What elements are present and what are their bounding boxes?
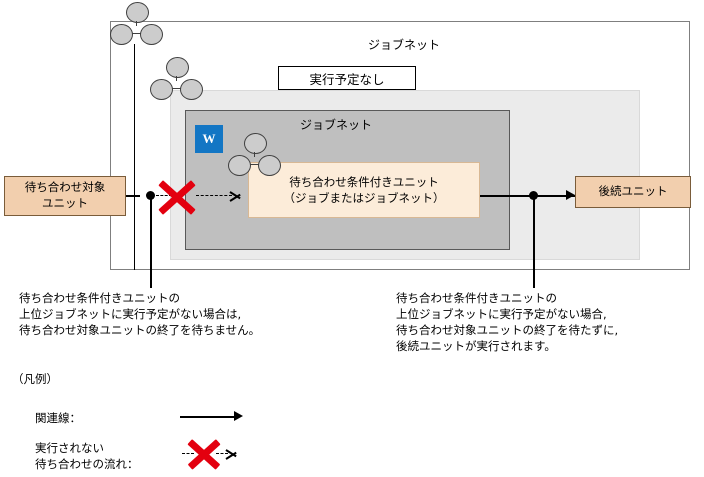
legend-solid-arrow-icon — [234, 411, 243, 421]
jobnet-icon-circle-top — [166, 57, 189, 78]
legend-item-blocked-label-line1: 実行されない — [35, 441, 104, 456]
jobnet-icon-circle-left — [228, 155, 251, 176]
wait-condition-unit-label-line2: （ジョブまたはジョブネット） — [284, 190, 445, 206]
outer-jobnet-rail-line — [134, 44, 135, 270]
jobnet-icon-circle-left — [110, 24, 133, 45]
legend-red-x-icon — [186, 437, 220, 469]
wait-condition-unit-label-line1: 待ち合わせ条件付きユニット — [289, 174, 439, 190]
inner-jobnet-label: ジョブネット — [300, 116, 372, 133]
waiting-unit-jobnet-icon — [228, 133, 282, 183]
successor-unit-box: 後続ユニット — [575, 176, 691, 208]
jobnet-icon-circle-left — [150, 79, 173, 100]
left-annotation-leader-line — [150, 196, 152, 288]
jobnet-icon-circle-right — [180, 79, 203, 100]
wait-target-unit-box: 待ち合わせ対象 ユニット — [4, 176, 126, 216]
left-annotation-line1: 待ち合わせ条件付きユニットの — [19, 291, 180, 306]
jobnet-icon-circle-top — [244, 133, 267, 154]
outer-jobnet-label: ジョブネット — [368, 36, 440, 53]
wait-target-unit-label-line1: 待ち合わせ対象 — [25, 180, 106, 196]
jobnet-icon-circle-right — [258, 155, 281, 176]
legend-item-blocked-label-line2: 待ち合わせの流れ： — [35, 457, 139, 472]
jobnet-icon-circle-top — [126, 2, 149, 23]
left-unit-connector-line — [126, 195, 140, 197]
jobnet-icon-circle-right — [140, 24, 163, 45]
outer-jobnet-icon — [110, 2, 164, 52]
legend-blocked-arrow-icon — [226, 447, 237, 461]
successor-unit-label: 後続ユニット — [599, 184, 668, 200]
right-annotation-line3: 待ち合わせ対象ユニットの終了を待たずに, — [396, 323, 618, 338]
jobnet-icon-link-vertical — [254, 152, 255, 157]
legend-solid-line — [180, 416, 235, 418]
successor-connector-line — [480, 195, 575, 197]
diagram-canvas: ジョブネット ジョブネット 実行予定なし W 待ち合わせ対象 ユニット 待ち合わ… — [0, 0, 704, 477]
wait-condition-badge-icon: W — [195, 125, 223, 153]
right-annotation-leader-line — [533, 196, 535, 288]
successor-arrow-icon — [566, 190, 575, 200]
legend-title: （凡例） — [12, 371, 58, 387]
red-x-icon — [156, 178, 194, 214]
no-schedule-callout: 実行予定なし — [278, 66, 416, 90]
legend-item-relation-label: 関連線： — [35, 411, 81, 426]
middle-jobnet-icon — [150, 57, 204, 107]
blocked-flow-dashed-segment-2 — [196, 195, 232, 196]
jobnet-icon-link-vertical — [176, 76, 177, 81]
blocked-flow-arrow-icon — [230, 189, 241, 203]
left-annotation-line2: 上位ジョブネットに実行予定がない場合は, — [19, 307, 241, 322]
right-annotation-line4: 後続ユニットが実行されます。 — [396, 339, 556, 354]
wait-target-unit-label-line2: ユニット — [42, 196, 88, 212]
right-annotation-line1: 待ち合わせ条件付きユニットの — [396, 291, 557, 306]
jobnet-icon-link-vertical — [136, 21, 137, 26]
left-annotation-line3: 待ち合わせ対象ユニットの終了を待ちません。 — [19, 323, 260, 338]
wait-condition-unit-box: 待ち合わせ条件付きユニット （ジョブまたはジョブネット） — [248, 162, 480, 218]
right-annotation-line2: 上位ジョブネットに実行予定がない場合, — [396, 307, 607, 322]
